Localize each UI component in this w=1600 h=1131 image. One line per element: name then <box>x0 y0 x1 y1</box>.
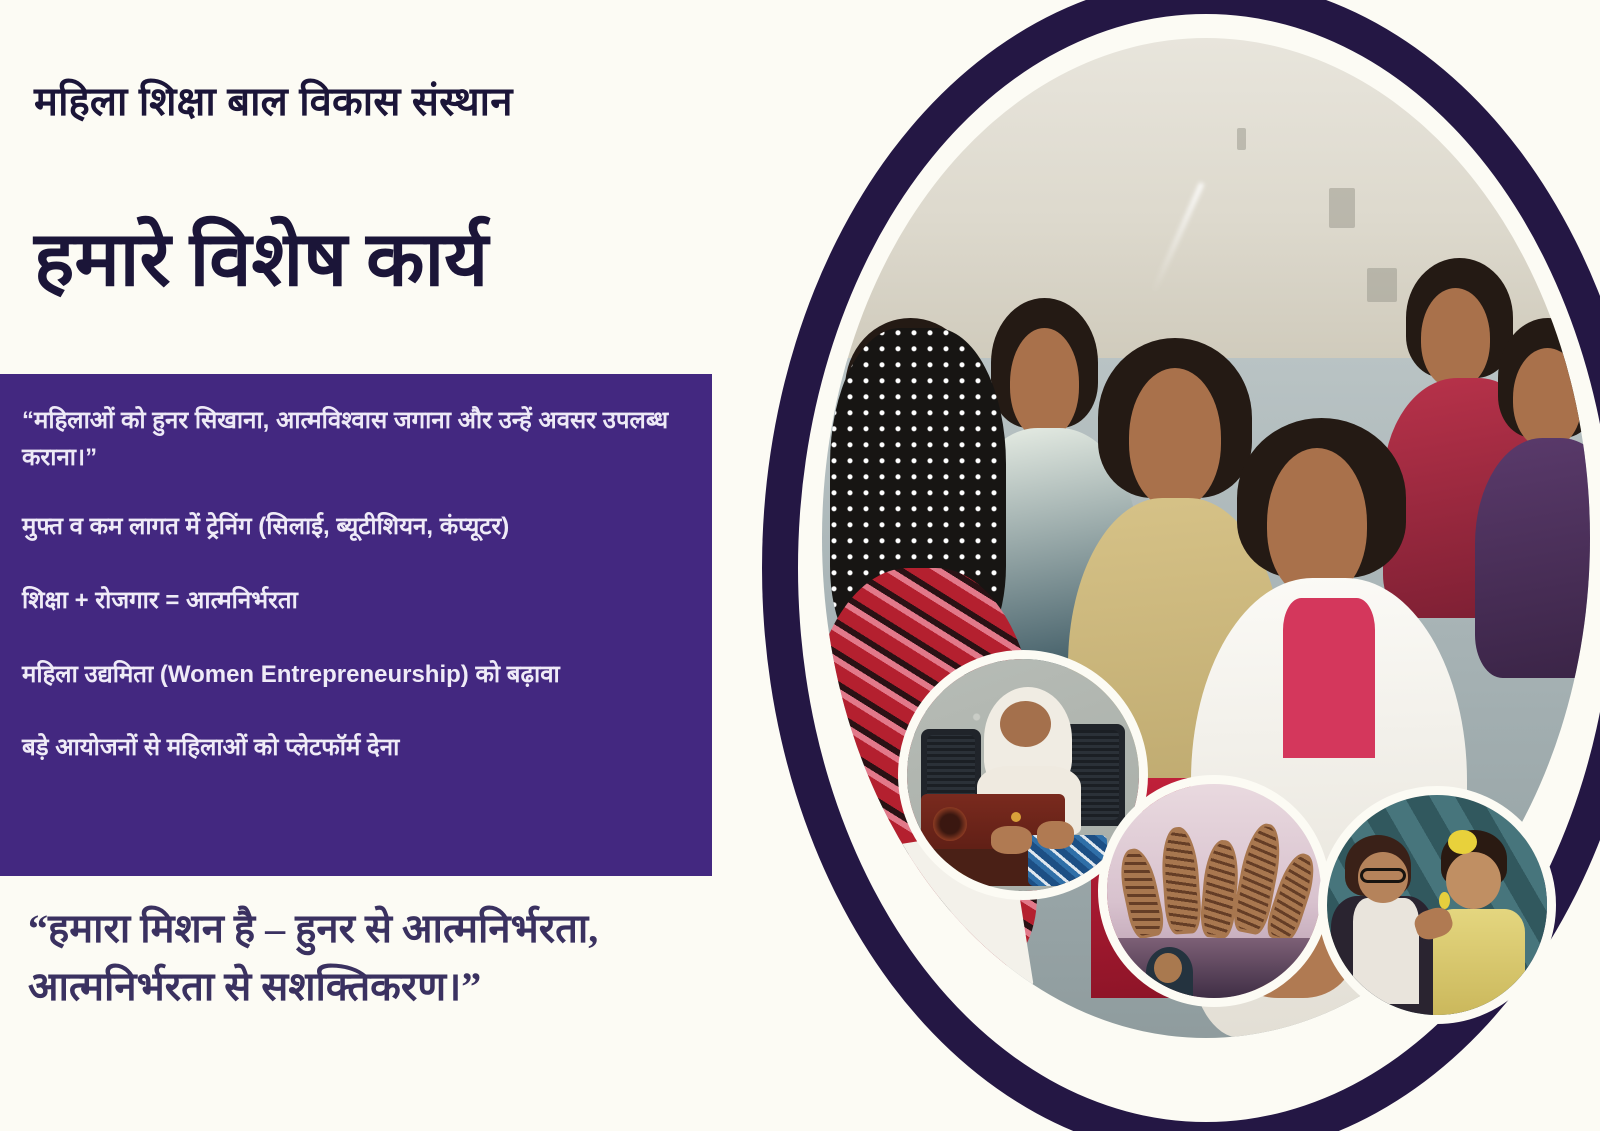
organization-title: महिला शिक्षा बाल विकास संस्थान <box>34 72 513 127</box>
highlight-item-training: मुफ्त व कम लागत में ट्रेनिंग (सिलाई, ब्य… <box>22 510 690 544</box>
photo-beauty <box>1318 786 1556 1024</box>
highlight-item-platform: बड़े आयोजनों से महिलाओं को प्लेटफॉर्म दे… <box>22 731 690 765</box>
poster-canvas: महिला शिक्षा बाल विकास संस्थान हमारे विश… <box>0 0 1600 1131</box>
mission-statement: “हमारा मिशन है – हुनर से आत्मनिर्भरता, आ… <box>28 900 788 1016</box>
highlight-panel: “महिलाओं को हुनर सिखाना, आत्मविश्वास जगा… <box>0 374 712 876</box>
highlight-quote: “महिलाओं को हुनर सिखाना, आत्मविश्वास जगा… <box>22 402 690 476</box>
photo-henna <box>1098 775 1330 1007</box>
highlight-item-equation: शिक्षा + रोजगार = आत्मनिर्भरता <box>22 584 690 618</box>
page-title: हमारे विशेष कार्य <box>34 222 488 298</box>
highlight-item-entrepreneurship: महिला उद्यमिता (Women Entrepreneurship) … <box>22 658 690 692</box>
